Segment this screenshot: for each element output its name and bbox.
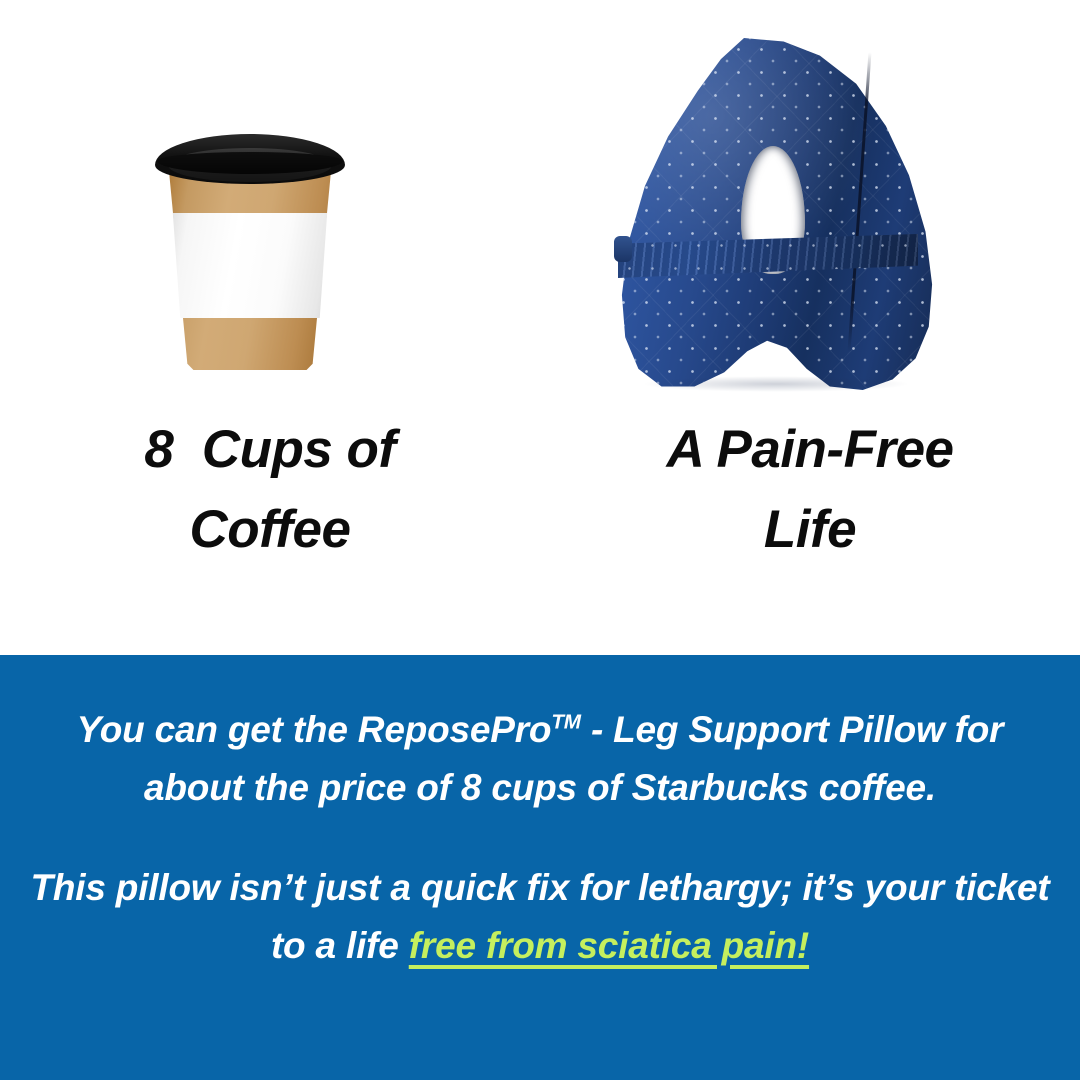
promo-blue-panel: You can get the ReposeProTM - Leg Suppor… [0,655,1080,1080]
pillow-illustration [612,38,942,390]
promo-benefit-highlight: free from sciatica pain! [409,925,809,966]
pillow-strap-buckle [614,236,632,262]
pillow-drop-shadow [642,376,910,392]
promo-paragraph-benefit: This pillow isn’t just a quick fix for l… [22,859,1058,975]
trademark-symbol: TM [551,711,581,734]
comparison-column-pillow: A Pain-FreeLife [540,0,1080,655]
promo-text-before-brand: You can get the [77,709,358,750]
brand-name: ReposePro [358,709,552,750]
leg-support-pillow-photo [540,0,1080,400]
caption-pillow: A Pain-FreeLife [540,410,1080,570]
comparison-section: 8 Cups ofCoffee A Pain-FreeLife [0,0,1080,655]
caption-pillow-line-2: Life [764,500,856,559]
caption-coffee-line-1: 8 Cups of [144,420,395,479]
caption-pillow-line-1: A Pain-Free [666,420,953,479]
coffee-cup-photo [0,0,540,400]
comparison-column-coffee: 8 Cups ofCoffee [0,0,540,655]
cup-sleeve [167,213,333,318]
coffee-cup-illustration [155,108,345,370]
caption-coffee: 8 Cups ofCoffee [0,410,540,570]
promo-paragraph-price: You can get the ReposeProTM - Leg Suppor… [22,701,1058,817]
caption-coffee-line-2: Coffee [190,500,351,559]
